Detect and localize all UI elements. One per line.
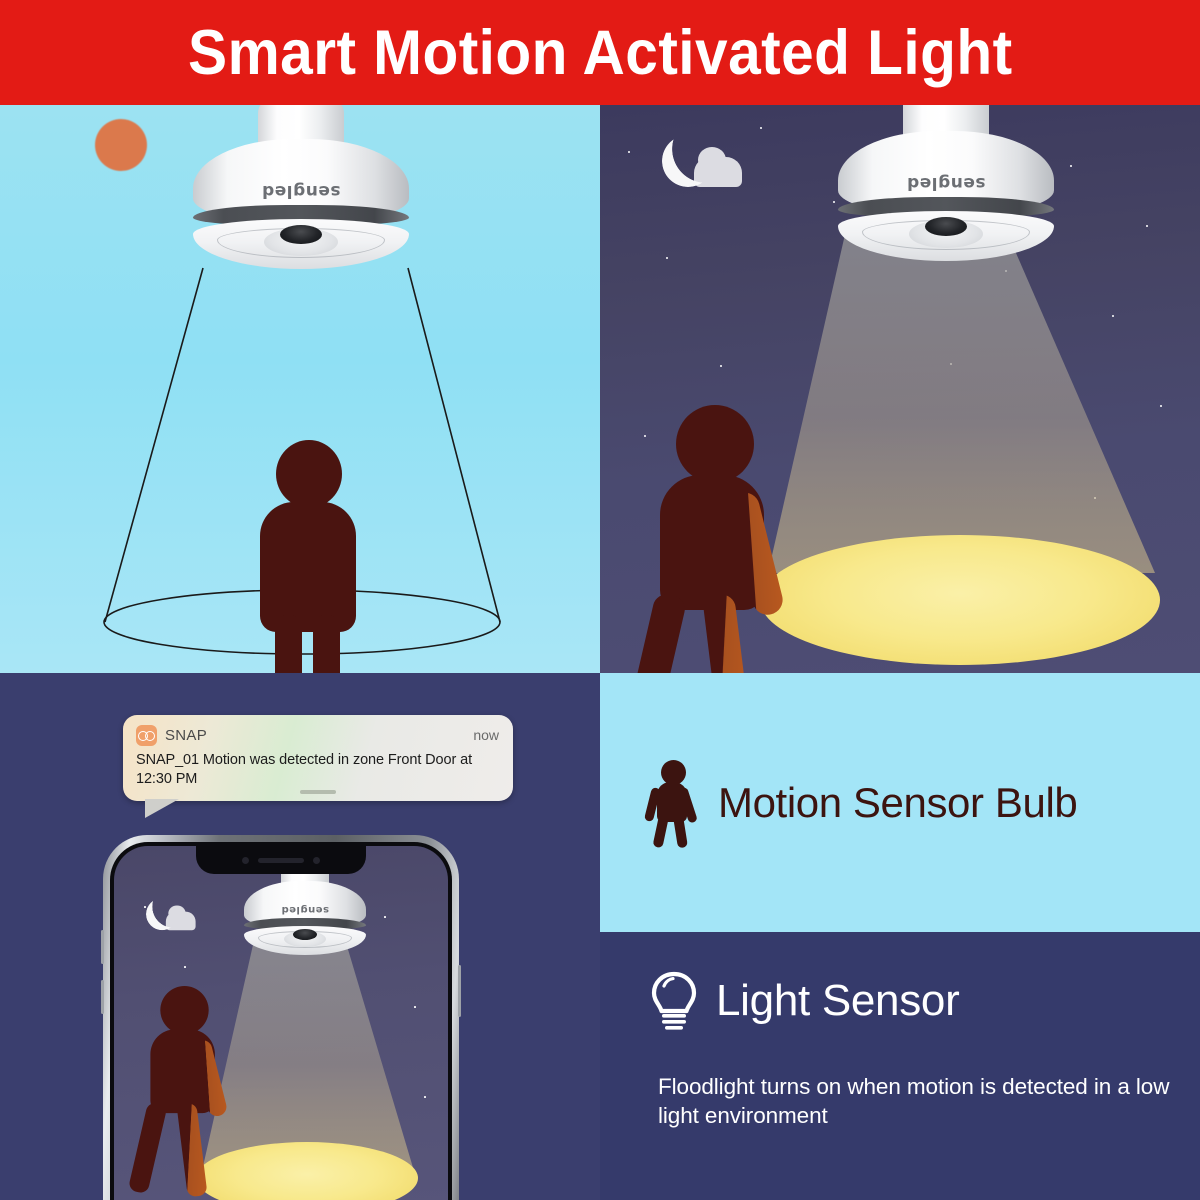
person-leg-left: [275, 615, 302, 673]
bulb-brand-label: sengled: [262, 181, 341, 201]
bulb-sensor-lens: [280, 225, 322, 244]
phone-power-button[interactable]: [458, 965, 461, 1017]
notification-header: SNAP now: [136, 724, 499, 746]
smart-bulb-product: sengled: [838, 105, 1054, 263]
header-banner: Smart Motion Activated Light: [0, 0, 1200, 105]
floodlight-pool: [760, 535, 1160, 665]
bulb-sensor-lens: [293, 929, 317, 940]
phone-notch: [196, 846, 366, 874]
bulb-sensor-lens: [925, 217, 967, 236]
icon-head: [661, 760, 686, 785]
feature-light-sensor: Light Sensor Floodlight turns on when mo…: [600, 932, 1200, 1200]
person-head: [276, 440, 342, 508]
phone-bezel: sengled: [110, 842, 452, 1200]
person-torso: [260, 502, 356, 632]
motion-sensor-title: Motion Sensor Bulb: [718, 779, 1077, 827]
notification-drag-handle[interactable]: [300, 790, 336, 794]
product-infographic: Smart Motion Activated Light sengled: [0, 0, 1200, 1200]
light-sensor-title: Light Sensor: [716, 976, 959, 1026]
walking-person-icon: [648, 760, 700, 846]
bulb-face: [244, 926, 366, 955]
person-leg-front: [177, 1103, 208, 1198]
earpiece-speaker-icon: [258, 858, 304, 863]
panel-daytime-detection: sengled: [0, 105, 600, 673]
person-head: [160, 986, 208, 1034]
bulb-brand-label: sengled: [907, 173, 986, 193]
bulb-face: [838, 211, 1054, 261]
page-title: Smart Motion Activated Light: [188, 17, 1013, 89]
snap-goggles-icon: [136, 725, 157, 746]
notification-app-name: SNAP: [165, 727, 207, 744]
light-sensor-description: Floodlight turns on when motion is detec…: [658, 1072, 1200, 1131]
walking-person-silhouette: [640, 405, 800, 673]
feature-motion-sensor: Motion Sensor Bulb: [600, 673, 1200, 932]
smartphone-mockup: sengled: [103, 835, 459, 1200]
light-sensor-heading-row: Light Sensor: [648, 970, 1200, 1032]
light-bulb-icon: [648, 970, 700, 1032]
proximity-sensor-icon: [313, 857, 320, 864]
bulb-face: [193, 219, 409, 269]
notification-tail: [145, 799, 179, 818]
phone-screen[interactable]: sengled: [114, 846, 448, 1200]
standing-person-silhouette: [252, 440, 362, 673]
notification-body-text: SNAP_01 Motion was detected in zone Fron…: [136, 751, 499, 788]
notification-timestamp: now: [473, 727, 499, 743]
screen-walking-person: [138, 986, 237, 1191]
notification-card[interactable]: SNAP now SNAP_01 Motion was detected in …: [123, 715, 513, 801]
front-camera-icon: [242, 857, 249, 864]
person-head: [676, 405, 754, 483]
smart-bulb-product: sengled: [193, 105, 409, 271]
phone-volume-button[interactable]: [101, 930, 104, 964]
person-leg-right: [313, 615, 340, 673]
bulb-brand-label: sengled: [281, 904, 329, 915]
phone-volume-button-2[interactable]: [101, 980, 104, 1014]
panel-nighttime-floodlight: sengled: [600, 105, 1200, 673]
